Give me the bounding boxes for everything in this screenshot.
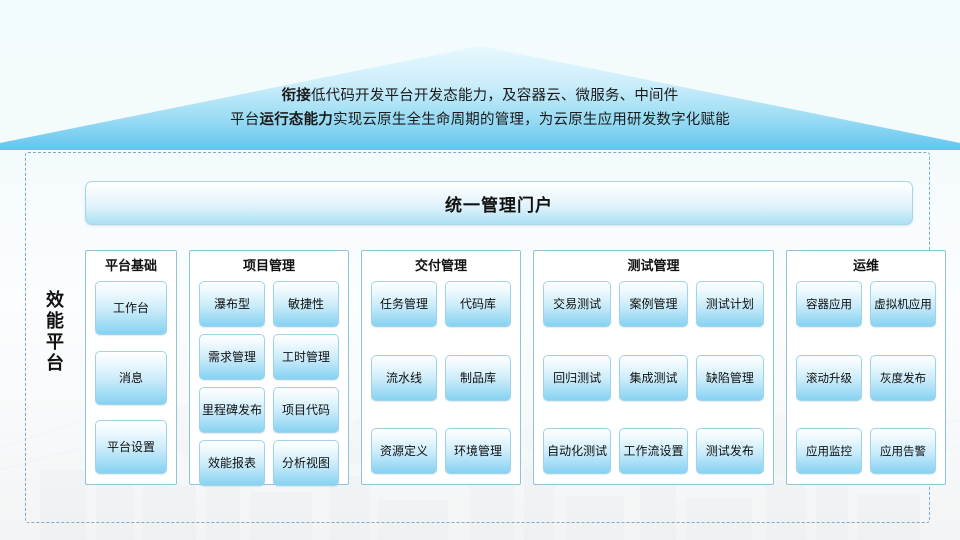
tile-grid-delivery-management: 任务管理代码库流水线制品库资源定义环境管理 (371, 281, 511, 474)
banner-text: 衔接低代码开发平台开发态能力，及容器云、微服务、中间件 平台运行态能力实现云原生… (0, 84, 960, 132)
tile-test-management-8[interactable]: 测试发布 (696, 428, 764, 474)
tile-grid-platform-basics: 工作台消息平台设置 (95, 281, 167, 474)
tile-test-management-0[interactable]: 交易测试 (543, 281, 611, 327)
banner-line-2: 平台运行态能力实现云原生全生命周期的管理，为云原生应用研发数字化赋能 (0, 108, 960, 132)
tile-test-management-3[interactable]: 回归测试 (543, 355, 611, 401)
platform-label-char-3: 台 (40, 353, 70, 374)
tile-operations-2[interactable]: 滚动升级 (796, 355, 862, 401)
platform-label-char-1: 能 (40, 311, 70, 332)
platform-label-char-2: 平 (40, 332, 70, 353)
tile-platform-basics-0[interactable]: 工作台 (95, 281, 167, 335)
tile-grid-test-management: 交易测试案例管理测试计划回归测试集成测试缺陷管理自动化测试工作流设置测试发布 (543, 281, 764, 474)
tile-test-management-4[interactable]: 集成测试 (619, 355, 687, 401)
tile-project-management-6[interactable]: 效能报表 (199, 440, 265, 486)
tile-operations-1[interactable]: 虚拟机应用 (870, 281, 936, 327)
tile-test-management-1[interactable]: 案例管理 (619, 281, 687, 327)
tile-operations-5[interactable]: 应用告警 (870, 428, 936, 474)
tile-delivery-management-4[interactable]: 资源定义 (371, 428, 437, 474)
group-box-delivery-management: 交付管理任务管理代码库流水线制品库资源定义环境管理 (361, 250, 521, 485)
tile-project-management-7[interactable]: 分析视图 (273, 440, 339, 486)
tile-grid-operations: 容器应用虚拟机应用滚动升级灰度发布应用监控应用告警 (796, 281, 936, 474)
tile-project-management-1[interactable]: 敏捷性 (273, 281, 339, 327)
tile-delivery-management-0[interactable]: 任务管理 (371, 281, 437, 327)
tile-test-management-2[interactable]: 测试计划 (696, 281, 764, 327)
tile-test-management-7[interactable]: 工作流设置 (619, 428, 687, 474)
tile-platform-basics-2[interactable]: 平台设置 (95, 420, 167, 474)
tile-operations-0[interactable]: 容器应用 (796, 281, 862, 327)
tile-delivery-management-3[interactable]: 制品库 (445, 355, 511, 401)
banner-line-1-rest: 低代码开发平台开发态能力，及容器云、微服务、中间件 (311, 88, 679, 104)
group-title-test-management: 测试管理 (543, 258, 764, 275)
tile-grid-project-management: 瀑布型敏捷性需求管理工时管理里程碑发布项目代码效能报表分析视图 (199, 281, 339, 486)
platform-vertical-label: 效能平台 (40, 290, 70, 374)
group-box-project-management: 项目管理瀑布型敏捷性需求管理工时管理里程碑发布项目代码效能报表分析视图 (189, 250, 349, 485)
tile-operations-4[interactable]: 应用监控 (796, 428, 862, 474)
banner-line-2-pre: 平台 (230, 112, 259, 128)
tile-project-management-4[interactable]: 里程碑发布 (199, 387, 265, 433)
portal-title: 统一管理门户 (445, 191, 553, 216)
group-title-delivery-management: 交付管理 (371, 258, 511, 275)
group-box-platform-basics: 平台基础工作台消息平台设置 (85, 250, 177, 485)
unified-management-portal-bar[interactable]: 统一管理门户 (85, 181, 913, 225)
platform-label-char-0: 效 (40, 290, 70, 311)
tile-platform-basics-1[interactable]: 消息 (95, 351, 167, 405)
tile-delivery-management-1[interactable]: 代码库 (445, 281, 511, 327)
banner-line-2-rest: 实现云原生全生命周期的管理，为云原生应用研发数字化赋能 (333, 112, 730, 128)
group-box-operations: 运维容器应用虚拟机应用滚动升级灰度发布应用监控应用告警 (786, 250, 946, 485)
tile-project-management-3[interactable]: 工时管理 (273, 334, 339, 380)
banner-line-2-bold: 运行态能力 (260, 112, 334, 128)
tile-project-management-5[interactable]: 项目代码 (273, 387, 339, 433)
tile-test-management-5[interactable]: 缺陷管理 (696, 355, 764, 401)
group-title-operations: 运维 (796, 258, 936, 275)
group-title-platform-basics: 平台基础 (95, 258, 167, 275)
tile-test-management-6[interactable]: 自动化测试 (543, 428, 611, 474)
group-box-test-management: 测试管理交易测试案例管理测试计划回归测试集成测试缺陷管理自动化测试工作流设置测试… (533, 250, 774, 485)
tile-delivery-management-2[interactable]: 流水线 (371, 355, 437, 401)
tile-delivery-management-5[interactable]: 环境管理 (445, 428, 511, 474)
tile-project-management-2[interactable]: 需求管理 (199, 334, 265, 380)
group-title-project-management: 项目管理 (199, 258, 339, 275)
tile-project-management-0[interactable]: 瀑布型 (199, 281, 265, 327)
tile-operations-3[interactable]: 灰度发布 (870, 355, 936, 401)
capability-group-row: 平台基础工作台消息平台设置项目管理瀑布型敏捷性需求管理工时管理里程碑发布项目代码… (85, 250, 913, 485)
banner-line-1: 衔接低代码开发平台开发态能力，及容器云、微服务、中间件 (0, 84, 960, 108)
banner-line-1-bold: 衔接 (282, 88, 311, 104)
